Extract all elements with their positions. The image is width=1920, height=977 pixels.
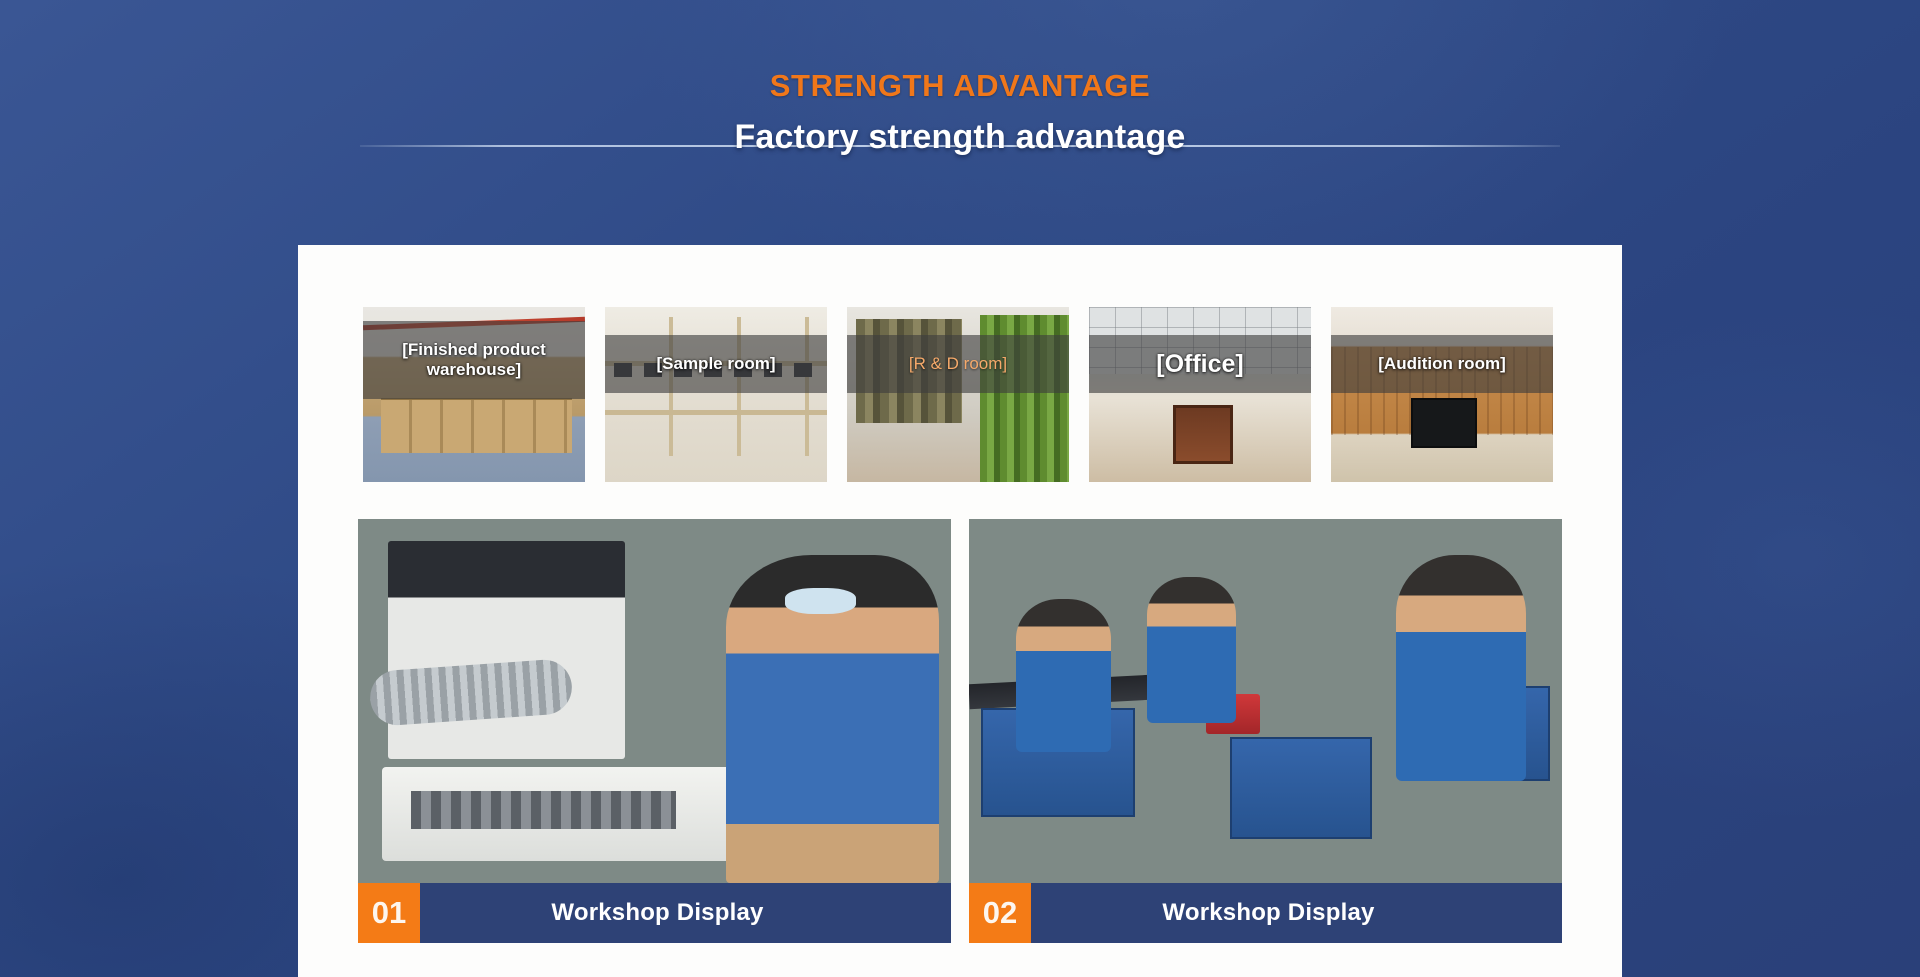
thumbnail-label: [R & D room]	[909, 354, 1007, 374]
workshop-photo	[969, 519, 1562, 883]
thumbnail-label: [Sample room]	[656, 354, 775, 374]
thumbnail-photo	[1331, 307, 1553, 482]
workshop-number-badge: 01	[358, 883, 420, 943]
thumbnail-photo	[1089, 307, 1311, 482]
thumbnail-sample-room[interactable]: [Sample room]	[605, 307, 827, 482]
page-root: STRENGTH ADVANTAGE Factory strength adva…	[0, 0, 1920, 977]
thumbnail-photo	[847, 307, 1069, 482]
section-header: STRENGTH ADVANTAGE Factory strength adva…	[0, 0, 1920, 210]
workshop-card-row: 01 Workshop Display 02 Workshop	[298, 519, 1622, 943]
thumbnail-label-band: [Audition room]	[1331, 335, 1553, 393]
worker-figure	[1147, 577, 1236, 723]
workshop-number-badge: 02	[969, 883, 1031, 943]
thumbnail-rd-room[interactable]: [R & D room]	[847, 307, 1069, 482]
workshop-caption-text: Workshop Display	[420, 883, 951, 943]
workshop-card-02[interactable]: 02 Workshop Display	[969, 519, 1562, 943]
thumbnail-label-band: [Office]	[1089, 335, 1311, 393]
worker-figure	[1016, 599, 1111, 752]
thumbnail-label-band: [Finished product warehouse]	[363, 321, 585, 399]
face-mask-shape	[785, 588, 856, 613]
laser-machine-shape	[388, 541, 625, 759]
workshop-caption-text: Workshop Display	[1031, 883, 1562, 943]
storage-bin-shape	[1230, 737, 1372, 839]
thumbnail-audition-room[interactable]: [Audition room]	[1331, 307, 1553, 482]
workshop-photo	[358, 519, 951, 883]
work-bench-shape	[382, 767, 750, 862]
workshop-caption-bar: 01 Workshop Display	[358, 883, 951, 943]
workshop-card-01[interactable]: 01 Workshop Display	[358, 519, 951, 943]
thumbnail-label: [Office]	[1156, 349, 1244, 379]
facility-thumbnail-strip: [Finished product warehouse] [Sample roo…	[363, 307, 1561, 482]
thumbnail-office[interactable]: [Office]	[1089, 307, 1311, 482]
thumbnail-label: [Audition room]	[1378, 354, 1505, 374]
worker-figure	[1396, 555, 1526, 781]
workshop-caption-bar: 02 Workshop Display	[969, 883, 1562, 943]
thumbnail-finished-product-warehouse[interactable]: [Finished product warehouse]	[363, 307, 585, 482]
thumbnail-photo	[605, 307, 827, 482]
thumbnail-label-band: [Sample room]	[605, 335, 827, 393]
section-eyebrow-title: STRENGTH ADVANTAGE	[0, 68, 1920, 104]
page-title: Factory strength advantage	[0, 118, 1920, 157]
content-panel: [Finished product warehouse] [Sample roo…	[298, 245, 1622, 977]
thumbnail-label: [Finished product warehouse]	[371, 340, 577, 381]
thumbnail-label-band: [R & D room]	[847, 335, 1069, 393]
